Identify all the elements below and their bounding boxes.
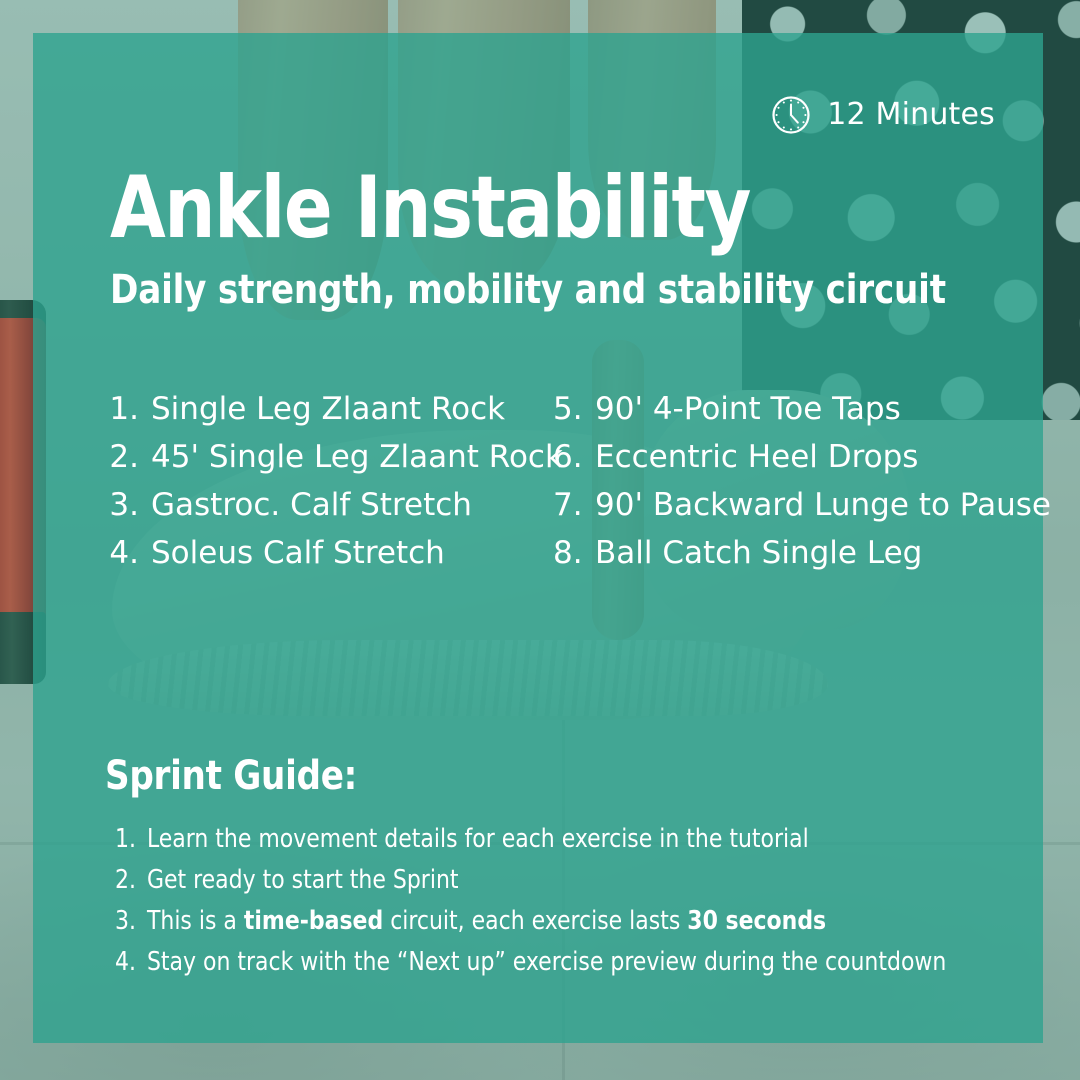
guide-item: 1. Learn the movement details for each e… bbox=[115, 819, 961, 860]
exercise-item: 3. Gastroc. Calf Stretch bbox=[93, 481, 523, 529]
exercise-name: 45' Single Leg Zlaant Rock bbox=[151, 433, 563, 481]
exercise-item: 4. Soleus Calf Stretch bbox=[93, 529, 523, 577]
exercise-number: 4. bbox=[93, 529, 139, 577]
exercise-number: 8. bbox=[553, 529, 585, 577]
exercise-number: 1. bbox=[93, 385, 139, 433]
guide-number: 4. bbox=[115, 942, 141, 983]
guide-text: Learn the movement details for each exer… bbox=[147, 819, 809, 860]
guide-number: 2. bbox=[115, 860, 141, 901]
exercise-list: 1. Single Leg Zlaant Rock 2. 45' Single … bbox=[93, 385, 1013, 577]
guide-item: 2. Get ready to start the Sprint bbox=[115, 860, 961, 901]
guide-item: 4. Stay on track with the “Next up” exer… bbox=[115, 942, 961, 983]
exercise-item: 5. 90' 4-Point Toe Taps bbox=[553, 385, 1003, 433]
guide-text: Get ready to start the Sprint bbox=[147, 860, 459, 901]
exercise-name: Gastroc. Calf Stretch bbox=[151, 481, 472, 529]
exercise-number: 7. bbox=[553, 481, 585, 529]
duration-badge: 12 Minutes bbox=[771, 95, 995, 135]
exercise-column-left: 1. Single Leg Zlaant Rock 2. 45' Single … bbox=[93, 385, 523, 577]
duration-label: 12 Minutes bbox=[827, 100, 995, 130]
exercise-name: 90' Backward Lunge to Pause bbox=[595, 481, 1051, 529]
exercise-name: Eccentric Heel Drops bbox=[595, 433, 918, 481]
workout-poster: 12 Minutes Ankle Instability Daily stren… bbox=[0, 0, 1080, 1080]
guide-number: 1. bbox=[115, 819, 141, 860]
exercise-name: Single Leg Zlaant Rock bbox=[151, 385, 505, 433]
exercise-item: 8. Ball Catch Single Leg bbox=[553, 529, 1003, 577]
page-subtitle: Daily strength, mobility and stability c… bbox=[110, 268, 946, 312]
guide-number: 3. bbox=[115, 901, 141, 942]
page-title: Ankle Instability bbox=[110, 163, 750, 253]
exercise-name: Ball Catch Single Leg bbox=[595, 529, 922, 577]
exercise-item: 1. Single Leg Zlaant Rock bbox=[93, 385, 523, 433]
exercise-number: 6. bbox=[553, 433, 585, 481]
guide-text: Stay on track with the “Next up” exercis… bbox=[147, 942, 946, 983]
exercise-item: 2. 45' Single Leg Zlaant Rock bbox=[93, 433, 523, 481]
exercise-number: 5. bbox=[553, 385, 585, 433]
exercise-item: 6. Eccentric Heel Drops bbox=[553, 433, 1003, 481]
exercise-item: 7. 90' Backward Lunge to Pause bbox=[553, 481, 1003, 529]
exercise-column-right: 5. 90' 4-Point Toe Taps 6. Eccentric Hee… bbox=[553, 385, 1003, 577]
poster-content: 12 Minutes Ankle Instability Daily stren… bbox=[33, 33, 1043, 1043]
sprint-guide-list: 1. Learn the movement details for each e… bbox=[115, 819, 1015, 983]
clock-icon bbox=[771, 95, 811, 135]
guide-item: 3. This is a time-based circuit, each ex… bbox=[115, 901, 961, 942]
exercise-name: Soleus Calf Stretch bbox=[151, 529, 445, 577]
exercise-number: 2. bbox=[93, 433, 139, 481]
sprint-guide-heading: Sprint Guide: bbox=[105, 753, 357, 799]
guide-text: This is a time-based circuit, each exerc… bbox=[147, 901, 826, 942]
exercise-number: 3. bbox=[93, 481, 139, 529]
exercise-name: 90' 4-Point Toe Taps bbox=[595, 385, 901, 433]
